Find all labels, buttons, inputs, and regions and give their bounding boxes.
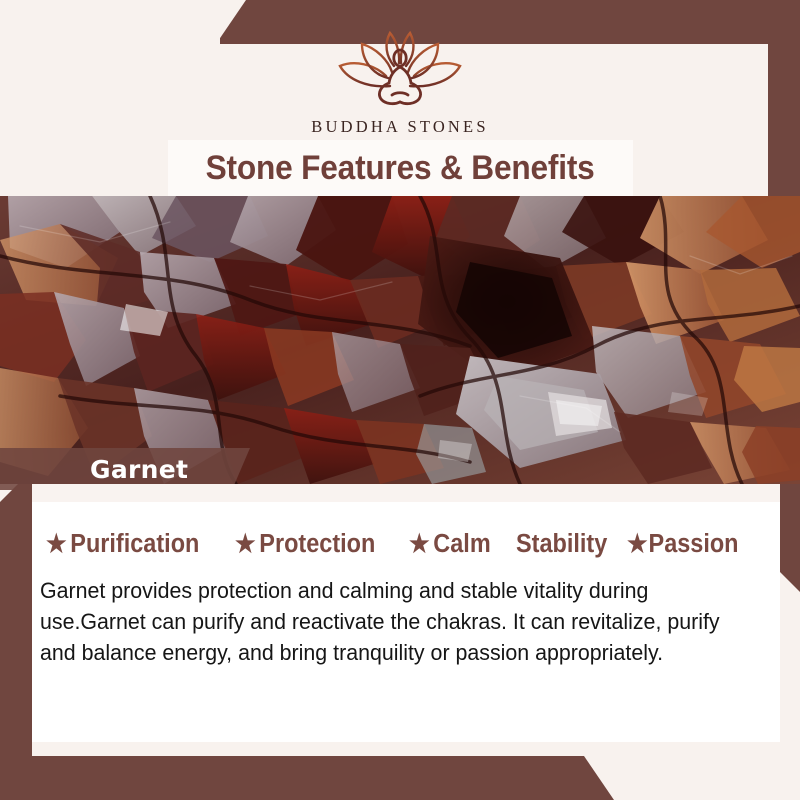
stone-description: Garnet provides protection and calming a…	[40, 575, 720, 668]
brand-logo: BUDDHA STONES	[0, 30, 800, 137]
page-title: Stone Features & Benefits	[206, 149, 595, 188]
benefit-label: Passion	[649, 530, 739, 559]
benefit-item-protection: ★ Protection	[235, 530, 375, 559]
star-icon: ★	[46, 532, 67, 557]
benefit-label: Protection	[259, 530, 375, 559]
benefit-item-purification: ★ Purification	[46, 530, 199, 559]
page-title-band: Stone Features & Benefits	[168, 140, 633, 196]
benefit-item-calm: ★ Calm	[409, 530, 491, 559]
benefit-item-passion: ★ Passion	[627, 530, 739, 559]
benefit-item-stability: Stability	[516, 530, 607, 559]
card-top-strip	[32, 484, 780, 502]
brand-name: BUDDHA STONES	[311, 117, 488, 137]
stone-name: Garnet	[90, 455, 188, 484]
lotus-meditation-icon	[332, 30, 468, 112]
benefit-label: Calm	[434, 530, 491, 559]
benefit-label: Stability	[516, 530, 607, 559]
frame-bottom-bar	[0, 756, 660, 800]
star-icon: ★	[409, 532, 430, 557]
benefit-keywords: ★ Purification ★ Protection ★ Calm Stabi…	[46, 530, 772, 559]
garnet-photo	[0, 196, 800, 484]
benefit-label: Purification	[70, 530, 199, 559]
stone-features-infographic: BUDDHA STONES Stone Features & Benefits	[0, 0, 800, 800]
frame-left-bar	[0, 470, 32, 800]
star-icon: ★	[235, 532, 256, 557]
star-icon: ★	[627, 532, 648, 557]
